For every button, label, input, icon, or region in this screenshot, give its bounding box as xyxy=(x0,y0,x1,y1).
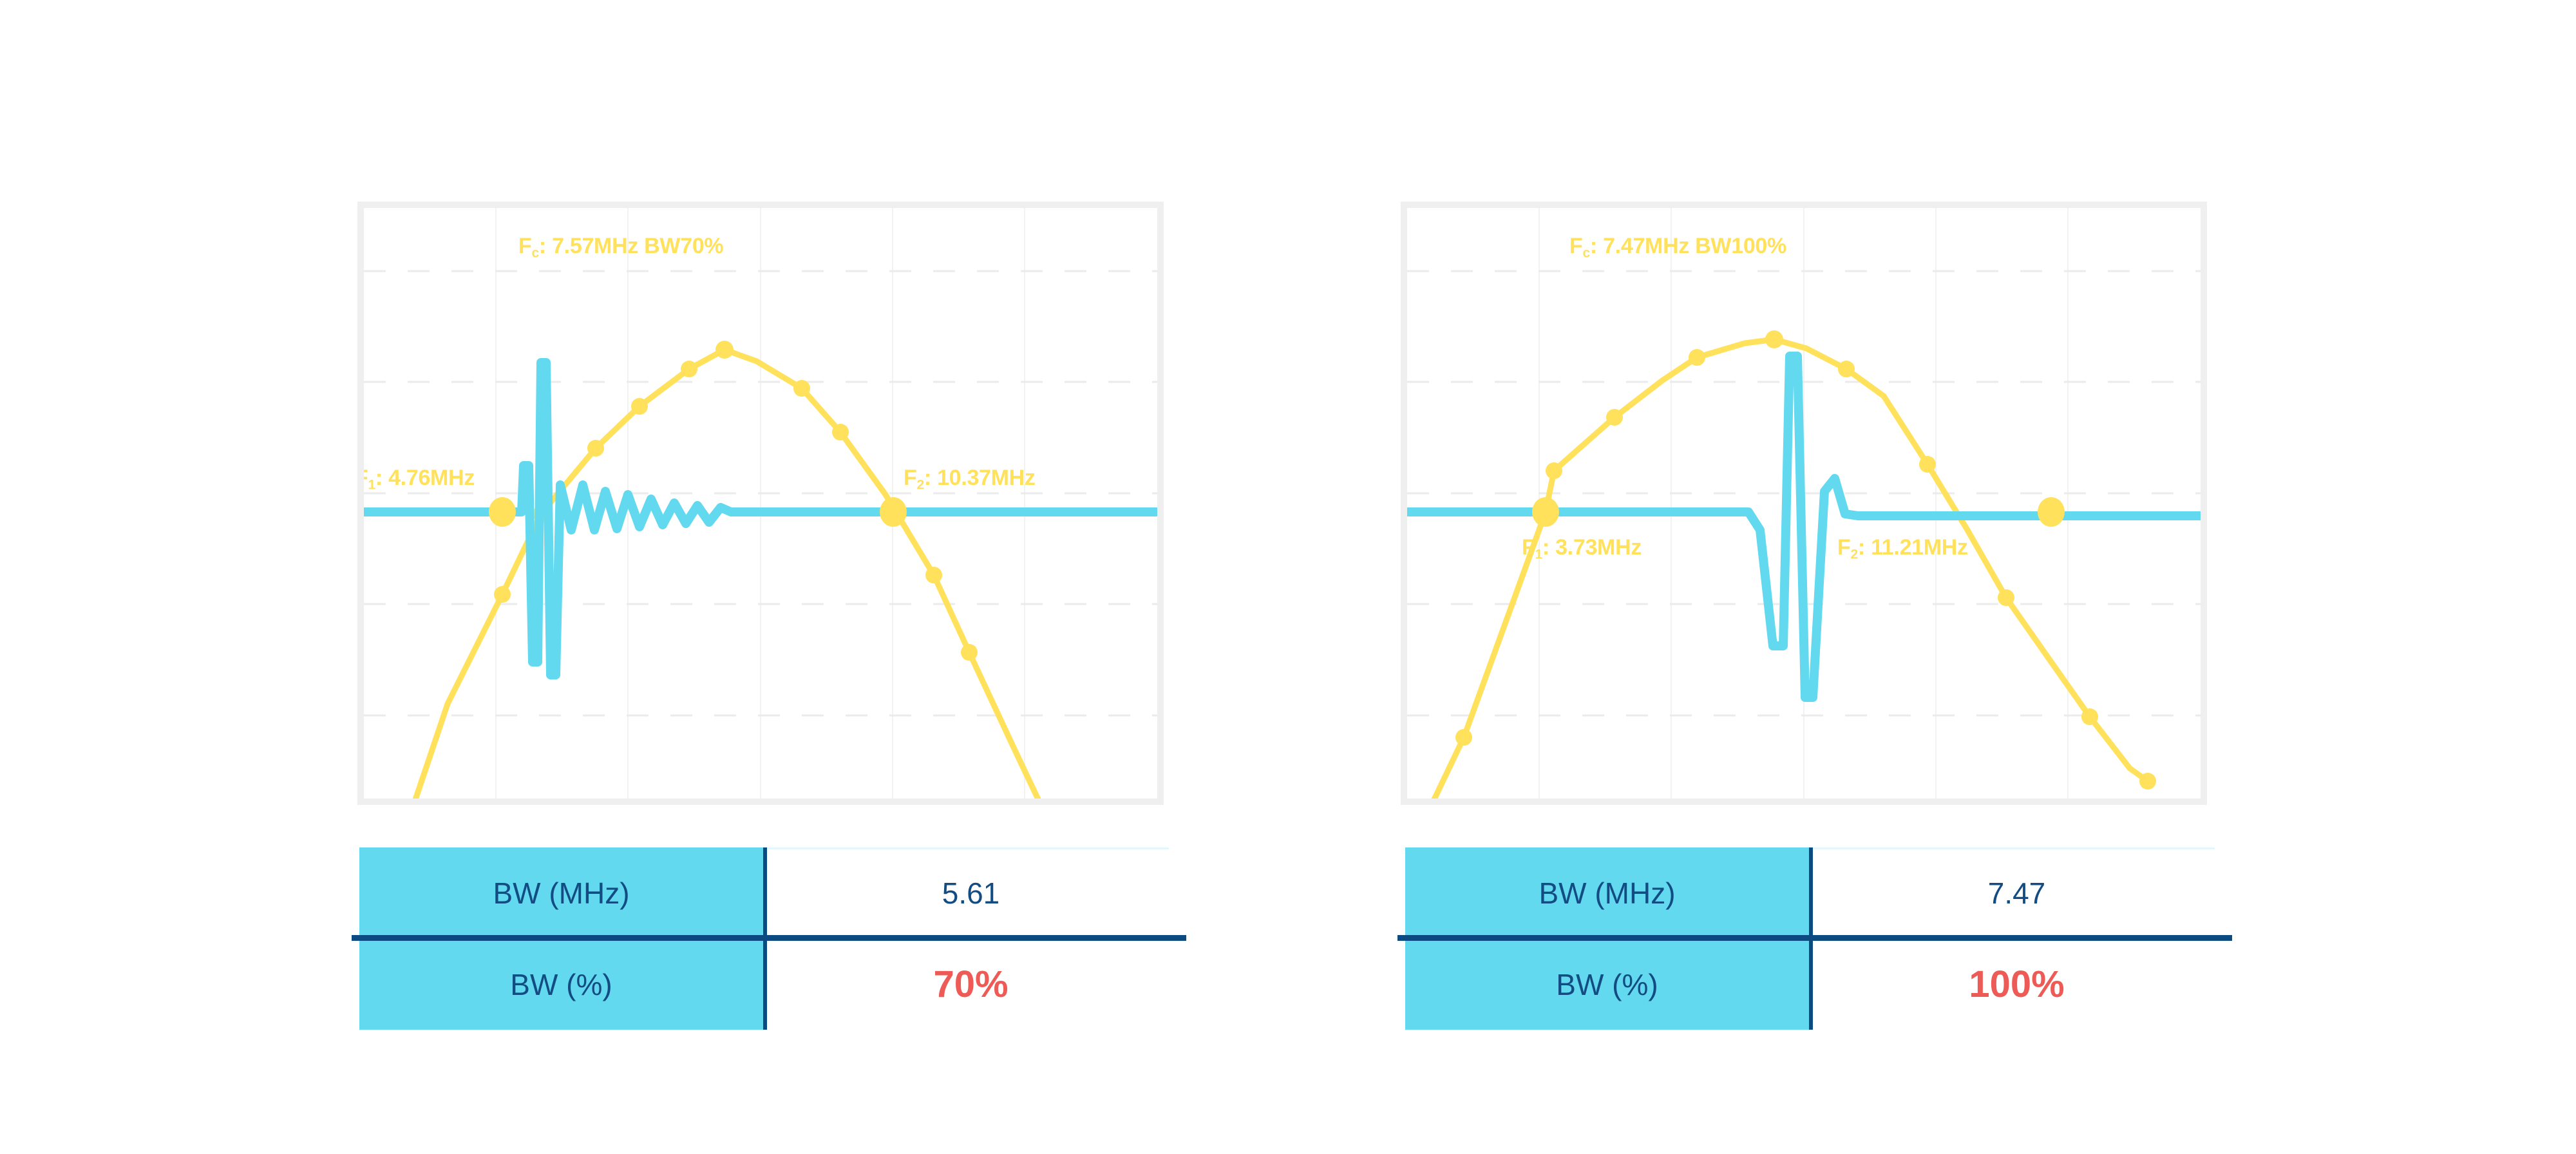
chart-frame-left: Fc: 7.57MHz BW70% F1: 4.76MHz F2: 10.37M… xyxy=(357,202,1164,805)
annotation-center-frequency-right: Fc: 7.47MHz BW100% xyxy=(1569,234,1786,261)
annotation-fc-prefix: F xyxy=(518,234,531,258)
chart-plot-area-left: Fc: 7.57MHz BW70% F1: 4.76MHz F2: 10.37M… xyxy=(364,208,1157,799)
f2-marker-right xyxy=(2038,497,2065,527)
annotation-f1-prefix: F xyxy=(1522,535,1535,560)
bw-pct-label-left: BW (%) xyxy=(359,939,763,1030)
panel-left: Fc: 7.57MHz BW70% F1: 4.76MHz F2: 10.37M… xyxy=(200,0,1294,1154)
table-row: BW (%) 100% xyxy=(1405,939,2224,1030)
bw-mhz-label-right: BW (MHz) xyxy=(1405,847,1809,938)
annotation-f1-text: : 3.73MHz xyxy=(1542,535,1642,560)
table-middle-rule-right xyxy=(1397,935,2232,941)
annotation-center-frequency-left: Fc: 7.57MHz BW70% xyxy=(518,234,723,261)
bw-pct-value-right: 100% xyxy=(1809,939,2224,1030)
bw-mhz-label-left: BW (MHz) xyxy=(359,847,763,938)
f2-marker-left xyxy=(880,497,907,527)
annotation-f2-text: : 10.37MHz xyxy=(924,466,1036,490)
annotation-f1-subscript: 1 xyxy=(368,478,375,493)
annotation-f2-prefix: F xyxy=(1837,535,1850,560)
annotation-fc-text: : 7.47MHz BW100% xyxy=(1590,234,1786,258)
table-row: BW (%) 70% xyxy=(359,939,1179,1030)
bandwidth-table-right: BW (MHz) 7.47 BW (%) 100% xyxy=(1405,847,2224,1030)
annotation-f2-text: : 11.21MHz xyxy=(1858,535,1968,560)
table-column-divider-left xyxy=(763,847,767,1030)
bw-pct-value-left: 70% xyxy=(763,939,1179,1030)
spectrum-chart-left xyxy=(364,208,1157,799)
table-column-divider-right xyxy=(1809,847,1813,1030)
bw-mhz-value-right: 7.47 xyxy=(1809,847,2224,938)
annotation-f2-subscript: 2 xyxy=(916,478,923,493)
annotation-f1-text: : 4.76MHz xyxy=(375,466,475,490)
panel-right: Fc: 7.47MHz BW100% F1: 3.73MHz F2: 11.21… xyxy=(1243,0,2338,1154)
bandwidth-table-left: BW (MHz) 5.61 BW (%) 70% xyxy=(359,847,1179,1030)
annotation-f2-subscript: 2 xyxy=(1850,547,1857,562)
annotation-fc-subscript: c xyxy=(1582,246,1589,261)
chart-plot-area-right: Fc: 7.47MHz BW100% F1: 3.73MHz F2: 11.21… xyxy=(1407,208,2201,799)
spectrum-chart-right xyxy=(1407,208,2201,799)
annotation-f1-right: F1: 3.73MHz xyxy=(1522,535,1642,563)
annotation-f2-left: F2: 10.37MHz xyxy=(904,466,1036,493)
annotation-fc-text: : 7.57MHz BW70% xyxy=(539,234,723,258)
table-row: BW (MHz) 7.47 xyxy=(1405,847,2224,938)
table-row: BW (MHz) 5.61 xyxy=(359,847,1179,938)
annotation-fc-prefix: F xyxy=(1569,234,1582,258)
f1-marker-right xyxy=(1532,497,1559,527)
annotation-f2-prefix: F xyxy=(904,466,916,490)
f1-marker-left xyxy=(489,497,516,527)
chart-frame-right: Fc: 7.47MHz BW100% F1: 3.73MHz F2: 11.21… xyxy=(1401,202,2207,805)
annotation-f2-right: F2: 11.21MHz xyxy=(1837,535,1968,563)
annotation-f1-left: F1: 4.76MHz xyxy=(364,466,475,493)
bw-pct-label-right: BW (%) xyxy=(1405,939,1809,1030)
table-middle-rule-left xyxy=(352,935,1186,941)
bw-mhz-value-left: 5.61 xyxy=(763,847,1179,938)
annotation-f1-subscript: 1 xyxy=(1535,547,1542,562)
annotation-fc-subscript: c xyxy=(531,246,538,261)
